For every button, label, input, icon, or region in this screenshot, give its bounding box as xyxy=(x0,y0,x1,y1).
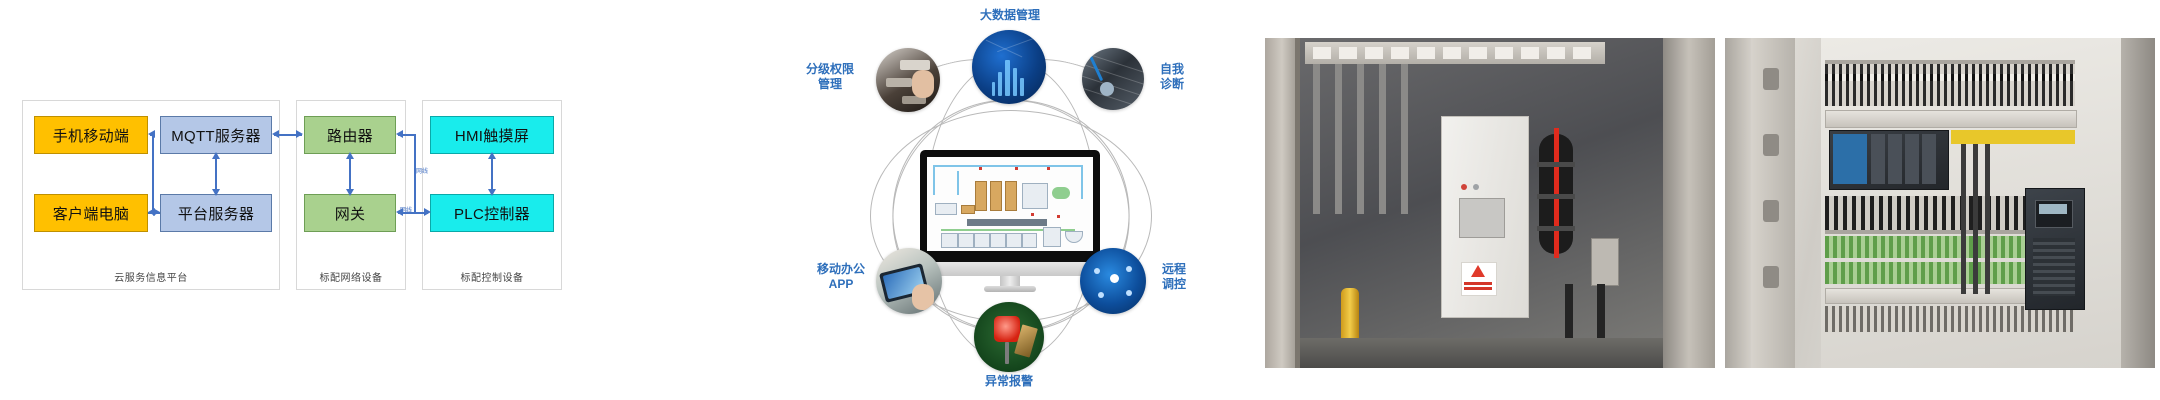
keyboard-line xyxy=(1082,63,1144,86)
plc-slot xyxy=(1905,134,1919,184)
spark xyxy=(1020,78,1024,96)
vfd-vent xyxy=(2033,238,2075,296)
wire-bundle xyxy=(1985,144,1990,294)
arrow-down-to-plc xyxy=(488,189,496,196)
stethoscope-head xyxy=(1100,82,1114,96)
spark xyxy=(1013,68,1017,96)
arrow-into-desktop-client xyxy=(148,208,155,216)
cabinet-door-left xyxy=(1265,38,1299,368)
arrow-left-to-router2 xyxy=(396,130,403,138)
cable-tie xyxy=(1537,226,1575,231)
arrow-down-to-gateway xyxy=(346,189,354,196)
cabinet-door-right xyxy=(1663,38,1715,368)
monitor-chin xyxy=(920,262,1100,276)
vent-slot xyxy=(1313,47,1331,59)
vent-slot xyxy=(1469,47,1487,59)
label-big-data-management: 大数据管理 xyxy=(958,8,1062,23)
arrow-up-to-router xyxy=(346,152,354,159)
platform-capability-wheel: 大数据管理 自我 诊断 远程 调控 异常报警 xyxy=(760,0,1300,400)
vent-slot xyxy=(1573,47,1591,59)
wire-bundle xyxy=(1973,144,1978,294)
label-self-diagnosis: 自我 诊断 xyxy=(1148,62,1196,92)
plc-slot xyxy=(1922,134,1936,184)
control-cabinet-photo-left xyxy=(1265,38,1715,368)
cabinet-frame-right xyxy=(2121,38,2155,368)
process-table-cell xyxy=(989,233,991,248)
group-cloud-platform-caption: 云服务信息平台 xyxy=(23,269,279,284)
spark xyxy=(998,72,1002,96)
hand xyxy=(912,284,934,310)
level-chip xyxy=(886,78,912,87)
level-chip xyxy=(900,60,930,70)
node-plc-controller-label: PLC控制器 xyxy=(454,203,530,224)
vfd-display xyxy=(2039,204,2067,214)
label-mobile-office-app: 移动办公 APP xyxy=(808,262,874,292)
vent-slot xyxy=(1417,47,1435,59)
wire-bundle xyxy=(1961,144,1966,294)
label-remote-control: 远程 调控 xyxy=(1150,262,1198,292)
node-plc-controller[interactable]: PLC控制器 xyxy=(430,194,554,232)
process-tank xyxy=(1005,181,1017,211)
wire-label-1: 网线 xyxy=(416,166,428,175)
process-pipe xyxy=(933,165,935,195)
process-valve xyxy=(979,167,982,170)
panel-indicator-lamp xyxy=(1461,184,1467,190)
plc-slot xyxy=(1888,134,1902,184)
process-valve xyxy=(1031,213,1034,216)
screenshot-canvas: 云服务信息平台 标配网络设备 标配控制设备 手机移动端 客户端电脑 MQTT服务… xyxy=(0,0,2160,400)
connector-hmi-plc xyxy=(491,156,493,192)
breaker-row-top xyxy=(1825,64,2075,106)
group-network-equipment-caption: 标配网络设备 xyxy=(297,269,405,284)
vent-slot xyxy=(1391,47,1409,59)
node-mobile-client[interactable]: 手机移动端 xyxy=(34,116,148,154)
arrow-down-to-platform xyxy=(212,189,220,196)
mount-hole xyxy=(1763,200,1779,222)
arrow-up-to-mqtt xyxy=(212,152,220,159)
hazard-text-line xyxy=(1464,287,1492,290)
wire-label-2: 网线 xyxy=(400,205,412,214)
cabinet-frame-left xyxy=(1725,38,1751,368)
arrow-right-to-plc xyxy=(424,208,431,216)
process-pipe xyxy=(957,171,959,195)
control-cabinet-photo-right xyxy=(1725,38,2155,368)
process-table-cell xyxy=(1021,233,1023,248)
node-platform-server-label: 平台服务器 xyxy=(178,203,255,224)
user-dot xyxy=(1126,266,1132,272)
process-tank xyxy=(975,181,987,211)
process-valve xyxy=(1057,215,1060,218)
yellow-warning-strip xyxy=(1951,130,2075,144)
hazard-text-line xyxy=(1464,282,1492,285)
vent-slot xyxy=(1495,47,1513,59)
node-mqtt-server[interactable]: MQTT服务器 xyxy=(160,116,272,154)
user-dot xyxy=(1110,274,1119,283)
conduit-pipe xyxy=(1401,64,1408,214)
network-line xyxy=(997,37,1037,52)
arrow-left-to-mqtt xyxy=(272,130,279,138)
vent-slot xyxy=(1339,47,1357,59)
panel-display xyxy=(1459,198,1505,238)
process-valve xyxy=(1015,167,1018,170)
user-dot xyxy=(1098,292,1104,298)
conduit-pipe xyxy=(1313,64,1320,214)
user-dot xyxy=(1094,268,1100,274)
panel-indicator-lamp xyxy=(1473,184,1479,190)
label-abnormal-alarm: 异常报警 xyxy=(957,374,1061,389)
cable-tie xyxy=(1537,162,1575,167)
plc-slot xyxy=(1871,134,1885,184)
hazard-triangle-icon xyxy=(1471,265,1485,277)
process-small-tank xyxy=(961,205,975,214)
access-level-icon xyxy=(876,48,940,112)
node-platform-server[interactable]: 平台服务器 xyxy=(160,194,272,232)
connector-mqtt-to-mobile-v xyxy=(152,135,154,213)
breaker-toggle-strip xyxy=(1825,74,2075,81)
spark xyxy=(992,82,995,96)
vent-slot xyxy=(1547,47,1565,59)
process-basin xyxy=(935,203,957,215)
process-unit xyxy=(1022,183,1048,209)
spark xyxy=(1005,60,1010,96)
node-router-label: 路由器 xyxy=(327,125,373,146)
conduit-pipe xyxy=(1379,64,1386,214)
alarm-beacon xyxy=(994,316,1020,342)
plc-faceplate xyxy=(1833,134,1867,184)
process-table-cell xyxy=(973,233,975,248)
node-hmi-touchscreen-label: HMI触摸屏 xyxy=(455,125,529,146)
remote-control-icon xyxy=(1080,248,1146,314)
big-data-icon xyxy=(972,30,1046,104)
connector-router-gateway xyxy=(349,156,351,192)
process-pipe xyxy=(933,165,1083,167)
mobile-office-icon xyxy=(876,248,942,314)
conduit-pipe xyxy=(1357,64,1364,214)
connector-mqtt-platform xyxy=(215,156,217,192)
arrow-up-to-hmi xyxy=(488,152,496,159)
process-weir xyxy=(1065,231,1083,243)
node-router[interactable]: 路由器 xyxy=(304,116,396,154)
alarm-stand xyxy=(1005,342,1009,364)
node-gateway[interactable]: 网关 xyxy=(304,194,396,232)
hand xyxy=(912,70,934,98)
node-hmi-touchscreen[interactable]: HMI触摸屏 xyxy=(430,116,554,154)
monitor-base xyxy=(984,286,1036,292)
arrow-right-to-router xyxy=(296,130,303,138)
wire-duct xyxy=(1825,110,2077,128)
mount-hole xyxy=(1763,134,1779,156)
self-diagnosis-icon xyxy=(1082,48,1144,110)
node-gateway-label: 网关 xyxy=(335,203,366,224)
conduit-pipe xyxy=(1335,64,1342,214)
monitor-screen xyxy=(927,157,1093,251)
system-architecture-diagram: 云服务信息平台 标配网络设备 标配控制设备 手机移动端 客户端电脑 MQTT服务… xyxy=(0,0,760,400)
vent-slot xyxy=(1365,47,1383,59)
vent-slot xyxy=(1443,47,1461,59)
process-pipe-green xyxy=(1052,187,1070,199)
process-pipe xyxy=(1081,165,1083,199)
arrow-into-mobile-client xyxy=(148,130,155,138)
terminal-box xyxy=(1591,238,1619,286)
process-valve xyxy=(1047,167,1050,170)
cabinet-floor xyxy=(1300,338,1663,368)
red-marker-line xyxy=(1554,128,1559,258)
node-mobile-client-label: 手机移动端 xyxy=(53,125,130,146)
alarm-icon xyxy=(974,302,1044,372)
cable-tie xyxy=(1537,194,1575,199)
process-sump xyxy=(1043,227,1061,247)
vent-slot xyxy=(1521,47,1539,59)
mount-hole xyxy=(1763,68,1779,90)
process-table-cell xyxy=(957,233,959,248)
control-cabinet-photos xyxy=(1265,0,2160,400)
node-desktop-client-label: 客户端电脑 xyxy=(53,203,130,224)
node-mqtt-server-label: MQTT服务器 xyxy=(171,125,261,146)
node-desktop-client[interactable]: 客户端电脑 xyxy=(34,194,148,232)
process-conveyor xyxy=(967,219,1047,226)
process-table-cell xyxy=(1005,233,1007,248)
group-control-equipment-caption: 标配控制设备 xyxy=(423,269,561,284)
central-monitor xyxy=(920,150,1100,290)
user-dot xyxy=(1126,290,1132,296)
process-tank xyxy=(990,181,1002,211)
mount-hole xyxy=(1763,266,1779,288)
label-access-level-management: 分级权限 管理 xyxy=(794,62,866,92)
